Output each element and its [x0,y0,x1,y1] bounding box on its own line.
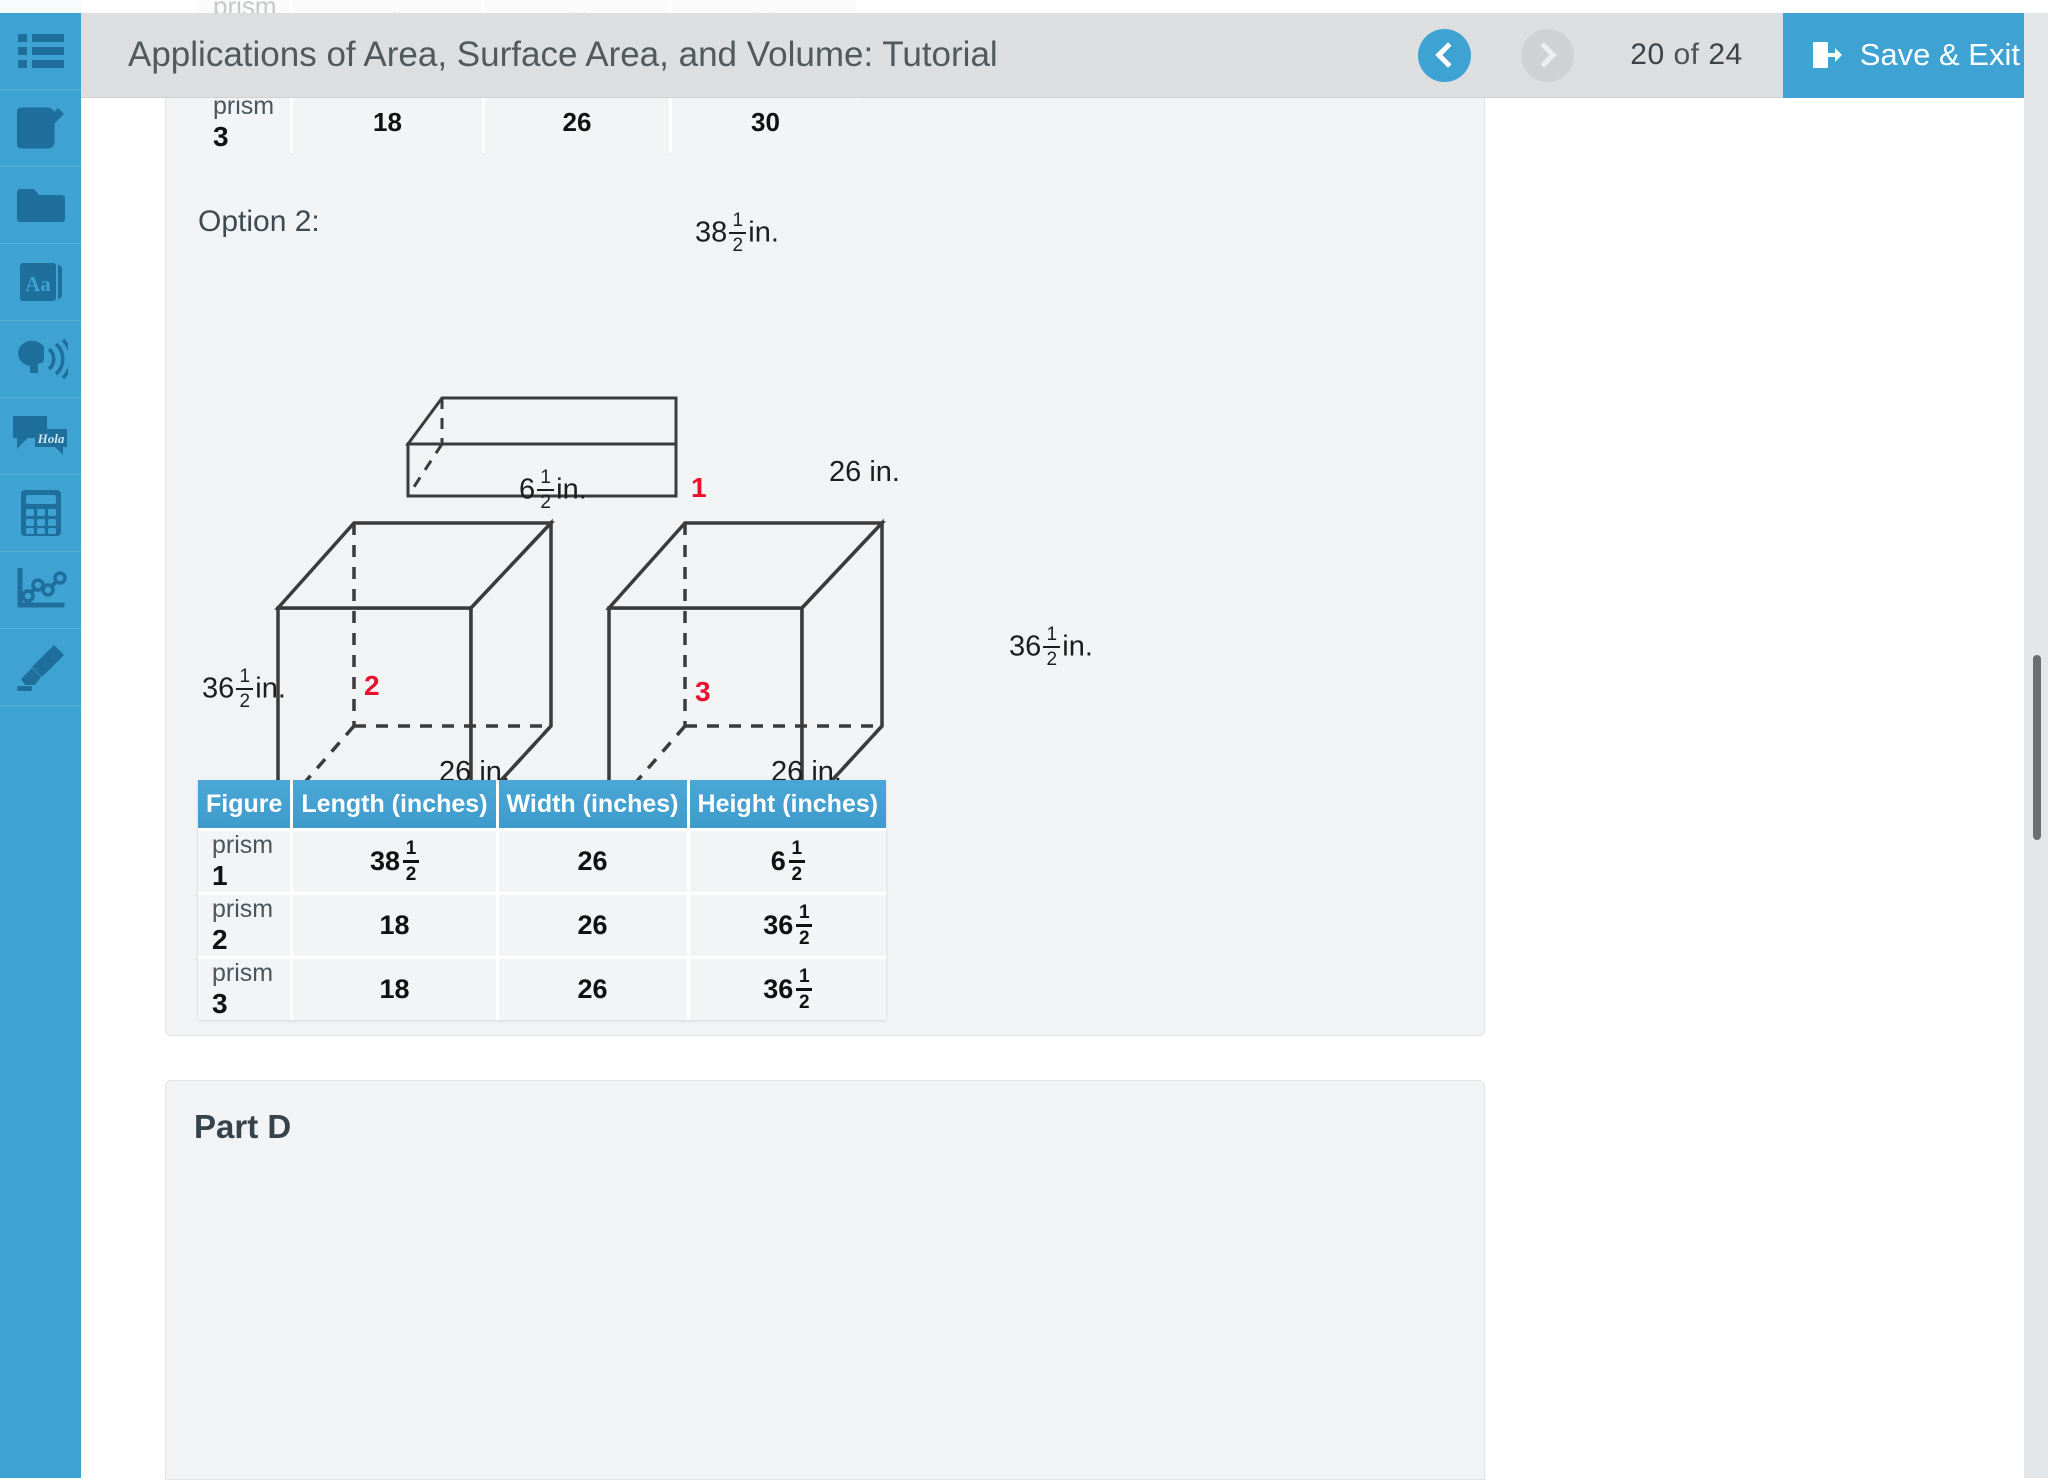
prism-dimensions-table: Figure Length (inches) Width (inches) He… [198,780,886,1020]
sidebar-item-graphing-tool[interactable] [0,552,81,629]
next-button[interactable] [1521,29,1574,82]
sidebar-item-glossary[interactable]: Aa [0,244,81,321]
sidebar-item-calculator[interactable] [0,475,81,552]
th-figure: Figure [198,780,293,828]
svg-text:Hola: Hola [36,431,64,446]
row3-figure-cell: prism 3 [198,956,293,1020]
page-title: Applications of Area, Surface Area, and … [128,35,998,75]
prism3-height-label: 3612in. [1009,626,1093,670]
th-height: Height (inches) [690,780,887,828]
page-of-word: of [1674,38,1700,71]
save-and-exit-button[interactable]: Save & Exit [1783,13,2048,98]
table-row: prism 3 18 26 30 [197,92,859,153]
svg-text:Aa: Aa [25,272,51,296]
scrollbar-thumb[interactable] [2033,655,2041,840]
row1-width-cell: 26 [499,828,690,892]
top-figure-cell: prism 3 [197,92,293,153]
prism2-figure-number: 2 [364,670,380,702]
part-d-title: Part D [194,1108,291,1146]
prism-2-shape [278,523,551,813]
table-row: prism 3 18 26 3612 [198,956,886,1020]
top-width-cell: 26 [485,92,672,153]
row1-length-cell: 3812 [293,828,498,892]
sidebar-item-resources[interactable] [0,167,81,244]
save-exit-label: Save & Exit [1860,37,2020,73]
prism3-figure-number: 3 [695,676,711,708]
chevron-right-icon [1532,42,1557,67]
row3-height-cell: 3612 [690,956,887,1020]
top-height-cell: 30 [672,92,859,153]
previous-button[interactable] [1418,29,1471,82]
top-length-cell: 18 [293,92,485,153]
row2-height-cell: 3612 [690,892,887,956]
question-content-card: Option 2: 3812in. 26 in. [165,98,1485,1036]
sidebar-item-translate[interactable]: Hola [0,398,81,475]
text-to-speech-icon [14,337,68,381]
header-nav-group: 20 of 24 Save & Exit [1418,13,2048,98]
row1-figure-cell: prism 1 [198,828,293,892]
th-width: Width (inches) [499,780,690,828]
row2-length-cell: 18 [293,892,498,956]
exit-door-icon [1811,39,1843,71]
list-icon [18,32,64,70]
folder-icon [16,185,66,225]
sidebar-item-highlighter[interactable] [0,629,81,706]
prism2-height-label: 3612in. [202,668,286,712]
page-indicator: 20 of 24 [1630,38,1742,72]
table-header-row: Figure Length (inches) Width (inches) He… [198,780,886,828]
dictionary-aa-icon: Aa [18,260,64,304]
page-current: 20 [1630,38,1664,71]
calculator-icon [20,489,62,537]
part-d-card: Part D [165,1080,1485,1480]
tool-rail: Aa Hola [0,13,81,1478]
lesson-header: Applications of Area, Surface Area, and … [81,13,2048,98]
notebook-pencil-icon [17,106,65,150]
row3-length-cell: 18 [293,956,498,1020]
row2-figure-cell: prism 2 [198,892,293,956]
chevron-left-icon [1436,42,1461,67]
row3-width-cell: 26 [499,956,690,1020]
table-row: prism 1 3812 26 612 [198,828,886,892]
row2-width-cell: 26 [499,892,690,956]
top-figure-num: 3 [213,121,229,152]
top-partial-table: prism 3 18 26 30 [197,92,859,153]
highlighter-icon [16,643,66,691]
table-row: prism 2 18 26 3612 [198,892,886,956]
prism1-length-label: 3812in. [695,212,779,256]
sidebar-item-table-of-contents[interactable] [0,13,81,90]
row1-height-cell: 612 [690,828,887,892]
translate-hola-icon: Hola [13,415,69,457]
prism-diagram: 3812in. 26 in. 612in. 1 [166,98,1486,898]
sidebar-item-notebook[interactable] [0,90,81,167]
page-total: 24 [1708,38,1742,71]
sidebar-item-read-aloud[interactable] [0,321,81,398]
th-length: Length (inches) [293,780,498,828]
graphing-tool-icon [15,568,67,612]
